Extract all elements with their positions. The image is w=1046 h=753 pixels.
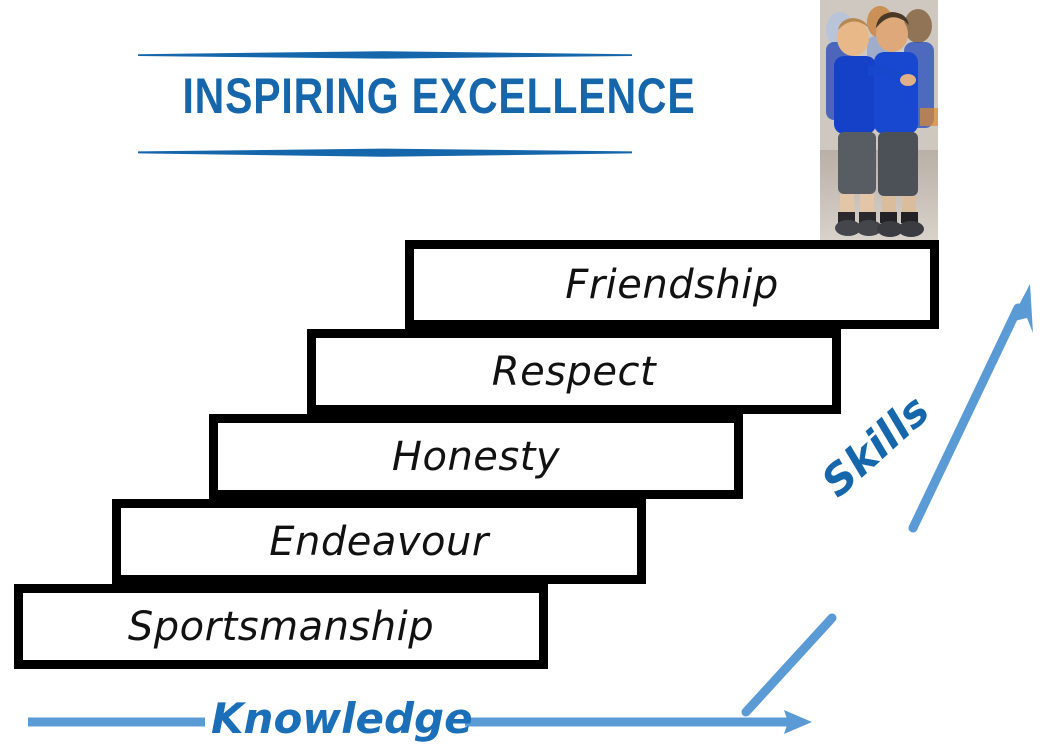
photo-illustration xyxy=(820,0,938,240)
step-respect[interactable]: Respect xyxy=(307,329,841,414)
logo-title: INSPIRING EXCELLENCE xyxy=(182,66,587,126)
step-endeavour[interactable]: Endeavour xyxy=(112,499,646,584)
step-label-sportsmanship: Sportsmanship xyxy=(128,604,434,650)
step-label-friendship: Friendship xyxy=(565,262,779,308)
step-friendship[interactable]: Friendship xyxy=(405,240,939,329)
slide-canvas: INSPIRING EXCELLENCE xyxy=(0,0,1046,753)
logo-bottom-rule-icon xyxy=(138,148,632,158)
photo-two-boys xyxy=(820,0,938,240)
step-label-endeavour: Endeavour xyxy=(269,519,489,565)
step-label-respect: Respect xyxy=(492,349,656,395)
school-logo: INSPIRING EXCELLENCE xyxy=(138,44,632,168)
step-sportsmanship[interactable]: Sportsmanship xyxy=(14,584,548,669)
step-label-honesty: Honesty xyxy=(392,434,560,480)
logo-top-rule-icon xyxy=(138,50,632,60)
knowledge-axis-label: Knowledge xyxy=(211,694,473,743)
step-honesty[interactable]: Honesty xyxy=(209,414,743,499)
